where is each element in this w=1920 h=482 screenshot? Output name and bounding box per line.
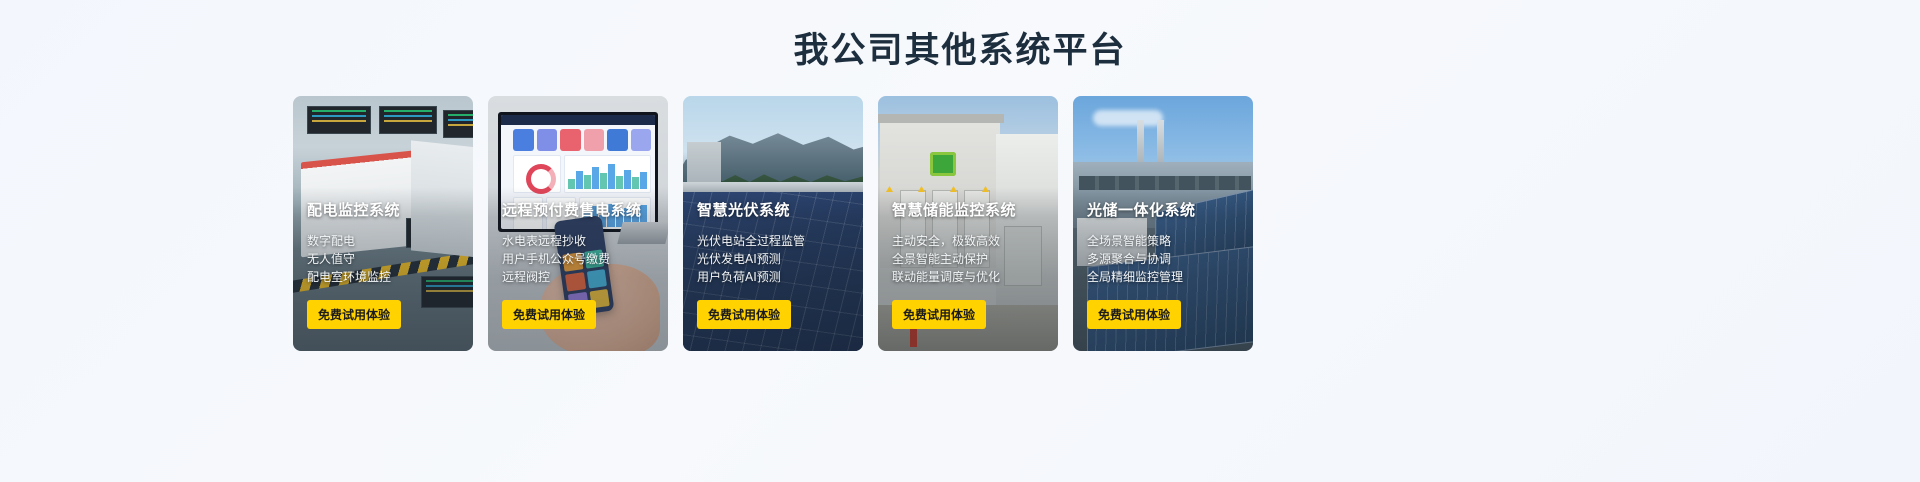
free-trial-button[interactable]: 免费试用体验	[307, 300, 401, 329]
product-card-distribution-monitoring[interactable]: 配电监控系统 数字配电 无人值守 配电室环境监控 免费试用体验	[293, 96, 473, 351]
card-title: 智慧储能监控系统	[892, 199, 1048, 220]
card-content: 智慧储能监控系统 主动安全，极致高效 全景智能主动保护 联动能量调度与优化 免费…	[892, 199, 1048, 351]
card-content: 远程预付费售电系统 水电表远程抄收 用户手机公众号缴费 远程阀控 免费试用体验	[502, 199, 658, 351]
free-trial-button[interactable]: 免费试用体验	[697, 300, 791, 329]
card-feature: 全景智能主动保护	[892, 250, 1048, 268]
card-feature: 用户手机公众号缴费	[502, 250, 658, 268]
card-feature: 配电室环境监控	[307, 268, 463, 286]
card-feature-list: 光伏电站全过程监管 光伏发电AI预测 用户负荷AI预测	[697, 232, 853, 286]
free-trial-button[interactable]: 免费试用体验	[502, 300, 596, 329]
company-logo-icon	[930, 152, 956, 176]
card-feature: 主动安全，极致高效	[892, 232, 1048, 250]
card-title: 远程预付费售电系统	[502, 199, 658, 220]
product-card-energy-storage-monitoring[interactable]: 智慧储能监控系统 主动安全，极致高效 全景智能主动保护 联动能量调度与优化 免费…	[878, 96, 1058, 351]
hud-panel-icon	[307, 106, 371, 134]
chimney-shape	[1157, 120, 1164, 166]
hud-panel-icon	[379, 106, 437, 134]
card-title: 智慧光伏系统	[697, 199, 853, 220]
page-root: 我公司其他系统平台 配电监控系统 数字配电 无人值守 配电室环境监控 免费试用	[0, 0, 1920, 482]
card-feature-list: 主动安全，极致高效 全景智能主动保护 联动能量调度与优化	[892, 232, 1048, 286]
chimney-shape	[1137, 120, 1144, 166]
free-trial-button[interactable]: 免费试用体验	[892, 300, 986, 329]
card-feature-list: 数字配电 无人值守 配电室环境监控	[307, 232, 463, 286]
card-feature: 联动能量调度与优化	[892, 268, 1048, 286]
page-title: 我公司其他系统平台	[0, 22, 1920, 73]
hud-panel-icon	[443, 110, 473, 138]
card-feature: 全局精细监控管理	[1087, 268, 1243, 286]
building-shape	[687, 142, 721, 186]
card-feature: 远程阀控	[502, 268, 658, 286]
product-card-pv-storage-integration[interactable]: 光储一体化系统 全场景智能策略 多源聚合与协调 全局精细监控管理 免费试用体验	[1073, 96, 1253, 351]
card-feature-list: 水电表远程抄收 用户手机公众号缴费 远程阀控	[502, 232, 658, 286]
card-feature: 用户负荷AI预测	[697, 268, 853, 286]
product-card-smart-photovoltaic[interactable]: 智慧光伏系统 光伏电站全过程监管 光伏发电AI预测 用户负荷AI预测 免费试用体…	[683, 96, 863, 351]
product-card-prepaid-electricity-sales[interactable]: 远程预付费售电系统 水电表远程抄收 用户手机公众号缴费 远程阀控 免费试用体验	[488, 96, 668, 351]
card-feature: 全场景智能策略	[1087, 232, 1243, 250]
free-trial-button[interactable]: 免费试用体验	[1087, 300, 1181, 329]
card-feature: 多源聚合与协调	[1087, 250, 1243, 268]
card-content: 配电监控系统 数字配电 无人值守 配电室环境监控 免费试用体验	[307, 199, 463, 351]
product-card-list: 配电监控系统 数字配电 无人值守 配电室环境监控 免费试用体验	[293, 96, 1253, 351]
card-feature: 光伏发电AI预测	[697, 250, 853, 268]
card-title: 配电监控系统	[307, 199, 463, 220]
card-title: 光储一体化系统	[1087, 199, 1243, 220]
card-feature: 水电表远程抄收	[502, 232, 658, 250]
card-content: 智慧光伏系统 光伏电站全过程监管 光伏发电AI预测 用户负荷AI预测 免费试用体…	[697, 199, 853, 351]
building-roof-cap	[878, 114, 1004, 123]
card-content: 光储一体化系统 全场景智能策略 多源聚合与协调 全局精细监控管理 免费试用体验	[1087, 199, 1243, 351]
card-feature: 数字配电	[307, 232, 463, 250]
card-feature: 无人值守	[307, 250, 463, 268]
card-feature: 光伏电站全过程监管	[697, 232, 853, 250]
card-feature-list: 全场景智能策略 多源聚合与协调 全局精细监控管理	[1087, 232, 1243, 286]
cloud-shape	[1093, 110, 1163, 126]
